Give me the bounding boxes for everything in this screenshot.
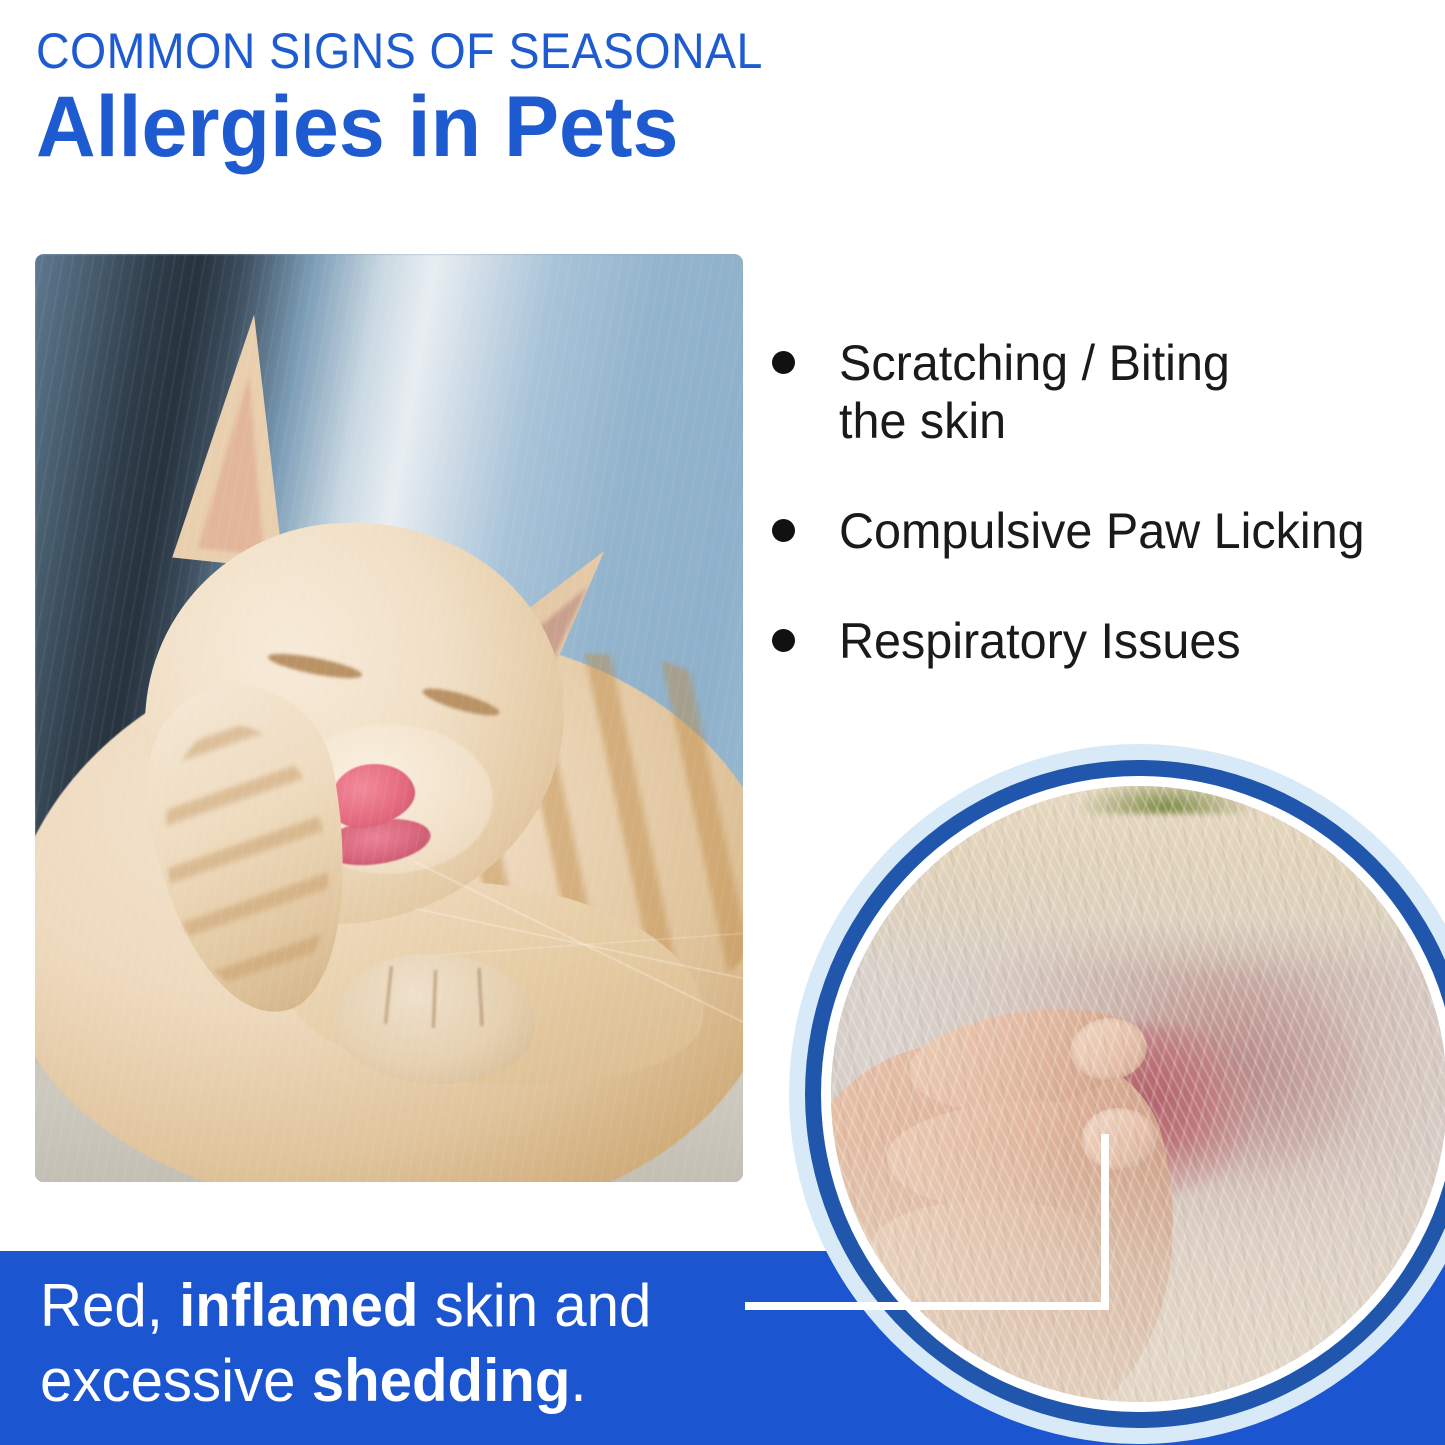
cat-grooming-photo: [35, 254, 743, 1182]
callout-pointer-vertical: [1101, 1134, 1109, 1310]
banner-line1-part1: Red,: [40, 1272, 179, 1339]
banner-line2-part2: .: [570, 1347, 586, 1414]
list-item: Respiratory Issues: [772, 612, 1432, 670]
banner-line1-part2: skin and: [418, 1272, 651, 1339]
banner-caption-line1: Red, inflamed skin and: [40, 1268, 738, 1343]
symptom-label: Scratching / Biting the skin: [839, 334, 1230, 450]
skin-green-foliage: [1081, 786, 1251, 814]
symptom-label: Compulsive Paw Licking: [839, 502, 1365, 560]
skin-top-fur: [831, 786, 1445, 976]
callout-pointer-horizontal: [745, 1302, 1109, 1310]
symptom-label: Respiratory Issues: [839, 612, 1241, 670]
headline-block: COMMON SIGNS OF SEASONAL Allergies in Pe…: [36, 26, 1036, 172]
banner-caption-line2: excessive shedding.: [40, 1343, 738, 1418]
banner-line2-part1: excessive: [40, 1347, 312, 1414]
banner-line2-bold: shedding: [312, 1347, 571, 1414]
inflamed-skin-circle-photo: [789, 744, 1445, 1444]
bullet-dot-icon: [772, 519, 795, 542]
page-title: Allergies in Pets: [36, 82, 996, 172]
list-item: Compulsive Paw Licking: [772, 502, 1432, 560]
headline-eyebrow: COMMON SIGNS OF SEASONAL: [36, 26, 966, 76]
finger: [871, 1200, 1111, 1310]
banner-line1-bold: inflamed: [179, 1272, 418, 1339]
bullet-dot-icon: [772, 351, 795, 374]
infographic-poster: COMMON SIGNS OF SEASONAL Allergies in Pe…: [0, 0, 1445, 1445]
list-item: Scratching / Biting the skin: [772, 334, 1432, 450]
bullet-dot-icon: [772, 629, 795, 652]
banner-caption: Red, inflamed skin and excessive sheddin…: [40, 1268, 738, 1418]
symptom-list: Scratching / Biting the skin Compulsive …: [772, 334, 1432, 722]
